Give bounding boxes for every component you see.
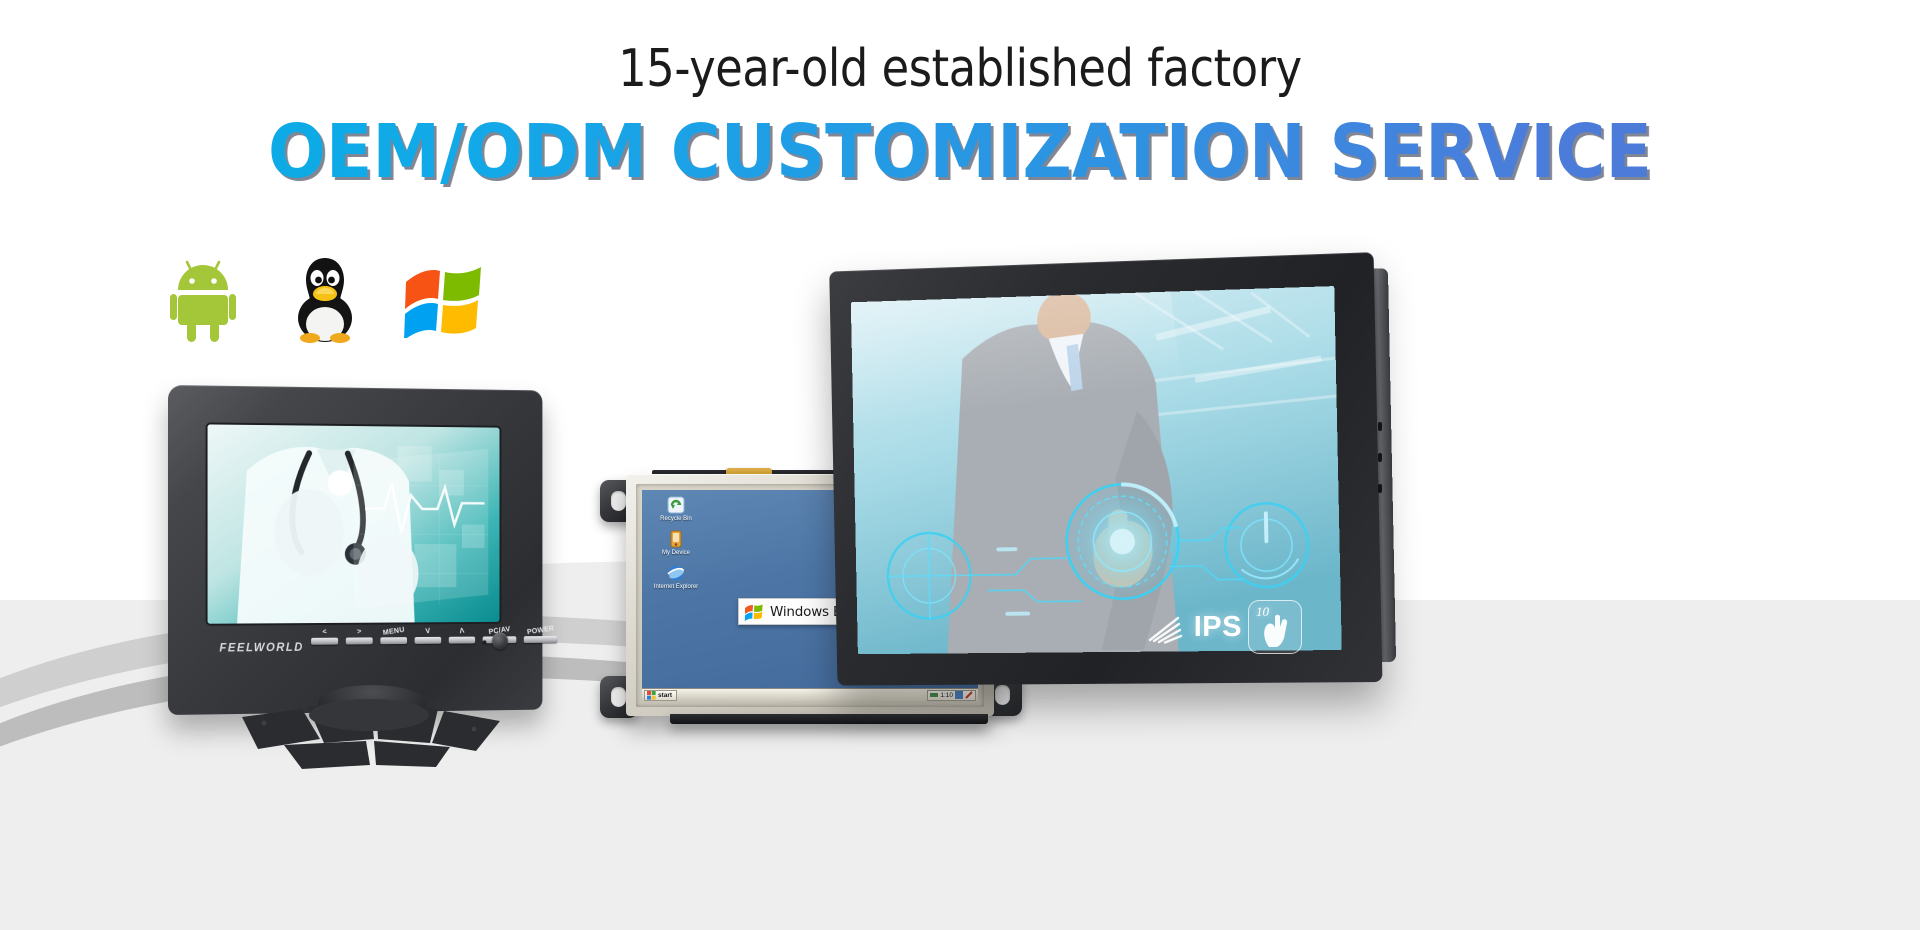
network-icon [955, 691, 963, 699]
monitor-button-right[interactable]: > [346, 637, 373, 644]
monitor-brand-label: FEELWORLD [219, 642, 304, 655]
monitor-small-chassis: FEELWORLD < > MENU V Λ PC/AV [168, 385, 542, 715]
monitor-button-left[interactable]: < [311, 638, 338, 645]
ce-desktop-icons: Recycle Bin My Device [648, 495, 704, 597]
start-label: start [658, 692, 672, 699]
banner-title: OEM/ODM CUSTOMIZATION SERVICE [77, 112, 1843, 193]
monitor-stand-base [224, 699, 514, 777]
linux-tux-logo [290, 252, 360, 349]
recycle-bin-icon[interactable]: Recycle Bin [648, 495, 704, 523]
power-led-indicator [483, 640, 487, 644]
ips-touch-monitor: IPS 10 [808, 252, 1378, 682]
internet-explorer-icon[interactable]: Internet Explorer [648, 563, 704, 591]
monitor-large-screen [851, 286, 1342, 654]
windows-logo [402, 262, 484, 343]
ips-feature-badge: IPS 10 [1148, 600, 1302, 654]
os-support-logos [170, 252, 484, 349]
port-indicator [1378, 453, 1382, 462]
monitor-button-menu[interactable]: MENU [380, 637, 407, 644]
system-tray[interactable]: 1:10 [927, 690, 976, 701]
ips-rays-icon [1148, 610, 1188, 644]
monitor-control-buttons[interactable]: < > MENU V Λ PC/AV POWER [311, 636, 557, 645]
port-indicator [1378, 422, 1382, 431]
marketing-banner: 15-year-old established factory OEM/ODM … [0, 0, 1920, 930]
start-flag-icon [647, 691, 656, 700]
ir-sensor-icon [492, 632, 508, 649]
start-button[interactable]: start [644, 690, 677, 701]
windows-flag-icon [744, 603, 764, 621]
ips-label: IPS [1194, 611, 1242, 644]
port-indicator [1378, 484, 1382, 493]
stylus-icon [965, 691, 973, 699]
monitor-button-down[interactable]: V [415, 637, 442, 644]
headline-block: 15-year-old established factory OEM/ODM … [0, 40, 1920, 194]
taskbar-clock: 1:10 [940, 692, 953, 699]
board-bottom-strip [670, 714, 988, 724]
touch-hand-icon [1261, 613, 1295, 649]
my-device-icon[interactable]: My Device [648, 529, 704, 557]
monitor-small-screen [208, 424, 500, 623]
android-logo [170, 254, 248, 349]
monitor-large-ports [1378, 422, 1383, 515]
ce-taskbar[interactable]: start 1:10 [642, 688, 978, 701]
feelworld-monitor: FEELWORLD < > MENU V Λ PC/AV [168, 385, 558, 715]
banner-subtitle: 15-year-old established factory [134, 40, 1785, 98]
multitouch-badge: 10 [1248, 600, 1302, 654]
volume-icon [930, 691, 938, 699]
monitor-button-up[interactable]: Λ [449, 637, 475, 644]
monitor-button-power[interactable]: POWER [524, 636, 557, 643]
